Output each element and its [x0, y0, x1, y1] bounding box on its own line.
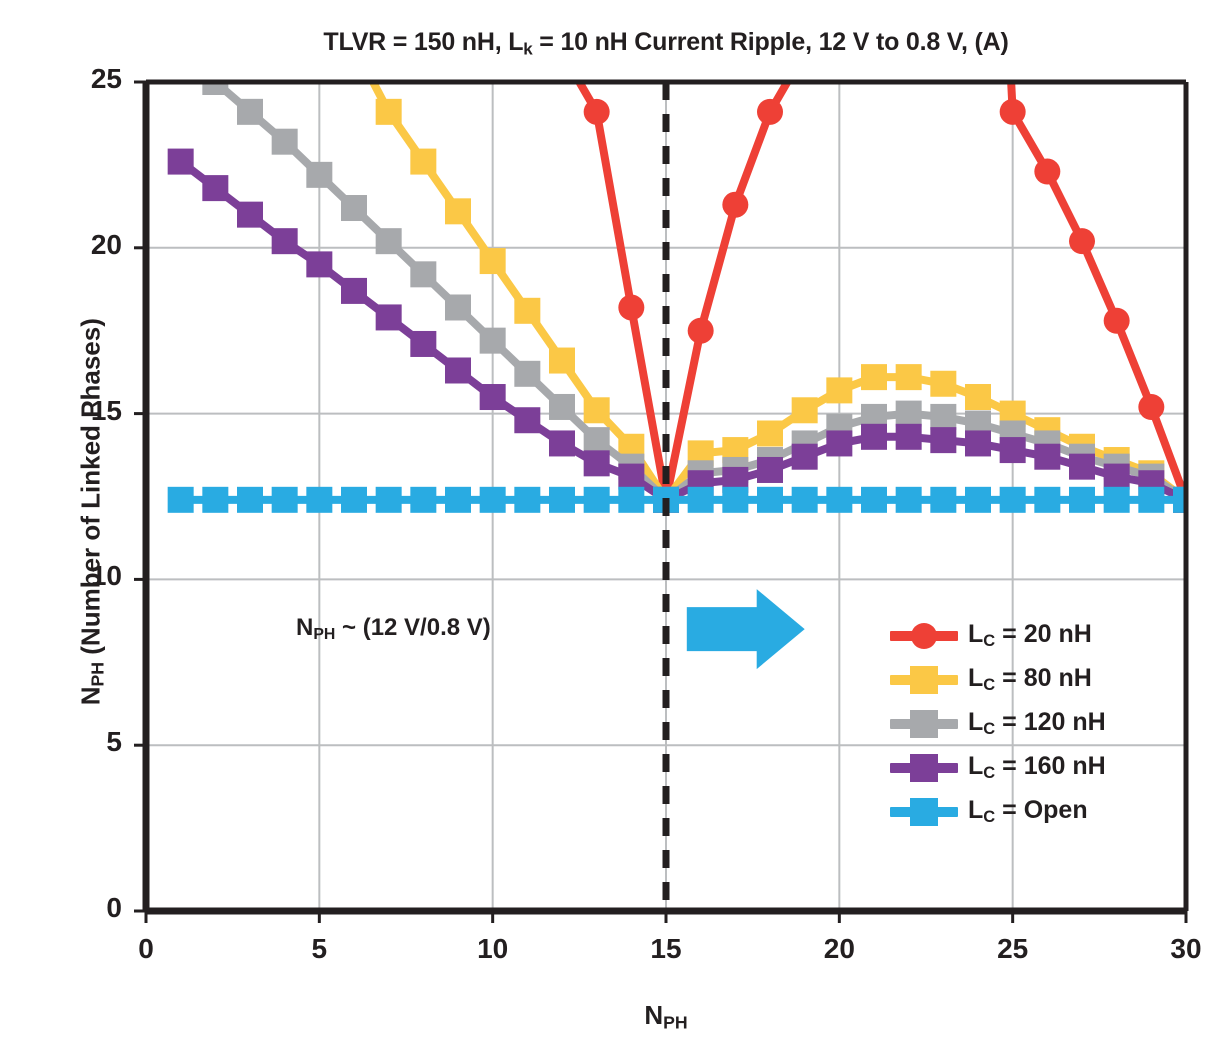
legend-item-2[interactable]: LC = 120 nH [888, 702, 1178, 746]
annotation-nph-ratio: NPH ~ (12 V/0.8 V) [296, 614, 491, 644]
data-point [376, 304, 402, 330]
data-point [1034, 444, 1060, 470]
data-point [272, 228, 298, 254]
data-point [1104, 487, 1130, 513]
series-group [168, 0, 1199, 513]
annotation-post: ~ (12 V/0.8 V) [335, 614, 490, 641]
data-point [757, 487, 783, 513]
data-point [861, 487, 887, 513]
data-point [1104, 464, 1130, 490]
data-point [306, 251, 332, 277]
legend-swatch-icon [888, 614, 960, 658]
x-tick-label: 10 [463, 933, 523, 965]
y-tick-label: 20 [66, 229, 122, 261]
y-tick-label: 15 [66, 395, 122, 427]
data-point [514, 361, 540, 387]
data-point [237, 487, 263, 513]
y-axis-label-base: N [75, 687, 105, 706]
x-axis-label-subscript: PH [663, 1012, 688, 1032]
data-point [376, 228, 402, 254]
data-point [792, 444, 818, 470]
legend-label: LC = 120 nH [968, 708, 1106, 739]
data-point [930, 404, 956, 430]
data-point [930, 487, 956, 513]
data-point [341, 487, 367, 513]
data-point [272, 487, 298, 513]
data-point [306, 162, 332, 188]
data-point [584, 450, 610, 476]
data-point [237, 99, 263, 125]
data-point [826, 430, 852, 456]
data-point [1138, 394, 1164, 420]
data-point [688, 487, 714, 513]
chart-container: TLVR = 150 nH, Lk = 10 nH Current Ripple… [0, 0, 1211, 1046]
y-tick-label: 0 [66, 892, 122, 924]
y-axis-label: NPH (Number of Linked Phases) [75, 232, 108, 792]
x-tick-label: 20 [809, 933, 869, 965]
x-axis-label: NPH [146, 1000, 1186, 1033]
legend-swatch-icon [888, 790, 960, 834]
data-point [514, 487, 540, 513]
data-point [826, 377, 852, 403]
data-point [168, 149, 194, 175]
chart-legend: LC = 20 nHLC = 80 nHLC = 120 nHLC = 160 … [888, 614, 1178, 834]
data-point [1104, 308, 1130, 334]
data-point [965, 430, 991, 456]
series-3 [168, 149, 1199, 513]
data-point [1138, 487, 1164, 513]
data-point [480, 248, 506, 274]
annotation-subscript: PH [313, 626, 335, 643]
data-point [445, 198, 471, 224]
data-point [376, 487, 402, 513]
data-point [896, 424, 922, 450]
y-tick-label: 25 [66, 63, 122, 95]
data-point [410, 261, 436, 287]
data-point [861, 364, 887, 390]
legend-label: LC = 20 nH [968, 620, 1092, 651]
data-point [1069, 487, 1095, 513]
data-point [480, 328, 506, 354]
data-point [896, 401, 922, 427]
data-point [792, 39, 818, 65]
data-point [618, 487, 644, 513]
data-point [584, 427, 610, 453]
legend-swatch-icon [888, 746, 960, 790]
data-point [1034, 487, 1060, 513]
data-point [896, 487, 922, 513]
data-point [1000, 99, 1026, 125]
data-point [896, 364, 922, 390]
data-point [272, 129, 298, 155]
y-tick-label: 10 [66, 560, 122, 592]
data-point [1069, 454, 1095, 480]
right-arrow-icon [687, 589, 805, 669]
data-point [410, 149, 436, 175]
data-point [168, 42, 194, 68]
data-point [549, 348, 575, 374]
data-point [584, 99, 610, 125]
x-tick-label: 5 [289, 933, 349, 965]
data-point [618, 294, 644, 320]
data-point [549, 39, 575, 65]
data-point [792, 487, 818, 513]
data-point [480, 487, 506, 513]
legend-swatch-icon [888, 702, 960, 746]
data-point [584, 487, 610, 513]
legend-item-0[interactable]: LC = 20 nH [888, 614, 1178, 658]
data-point [965, 487, 991, 513]
legend-label: LC = Open [968, 796, 1088, 827]
data-point [1000, 487, 1026, 513]
x-tick-label: 30 [1156, 933, 1211, 965]
data-point [618, 464, 644, 490]
data-point [722, 192, 748, 218]
data-point [757, 457, 783, 483]
data-point [410, 487, 436, 513]
data-point [514, 298, 540, 324]
data-point [688, 318, 714, 344]
data-point [1069, 228, 1095, 254]
legend-item-3[interactable]: LC = 160 nH [888, 746, 1178, 790]
data-point [410, 331, 436, 357]
data-point [341, 33, 367, 59]
data-point [861, 424, 887, 450]
annotation-base: N [296, 614, 313, 641]
x-axis-label-base: N [644, 1000, 663, 1030]
y-axis-label-post: (Number of Linked Phases) [75, 318, 105, 662]
data-point [757, 420, 783, 446]
data-point [341, 195, 367, 221]
data-point [1000, 437, 1026, 463]
data-point [237, 202, 263, 228]
data-point [965, 384, 991, 410]
data-point [549, 394, 575, 420]
legend-swatch-icon [888, 658, 960, 702]
legend-label: LC = 160 nH [968, 752, 1106, 783]
data-point [930, 427, 956, 453]
y-tick-label: 5 [66, 726, 122, 758]
data-point [757, 99, 783, 125]
y-axis-label-subscript: PH [88, 662, 108, 687]
data-point [514, 407, 540, 433]
data-point [445, 487, 471, 513]
data-point [826, 487, 852, 513]
data-point [202, 175, 228, 201]
data-point [306, 487, 332, 513]
data-point [341, 278, 367, 304]
data-point [480, 384, 506, 410]
data-point [930, 371, 956, 397]
data-point [792, 397, 818, 423]
data-point [376, 99, 402, 125]
legend-item-4[interactable]: LC = Open [888, 790, 1178, 834]
series-2 [168, 42, 1199, 512]
data-point [1034, 159, 1060, 185]
data-point [584, 397, 610, 423]
data-point [202, 487, 228, 513]
data-point [445, 294, 471, 320]
legend-label: LC = 80 nH [968, 664, 1092, 695]
data-point [168, 487, 194, 513]
x-tick-label: 15 [636, 933, 696, 965]
data-point [549, 430, 575, 456]
plot-area [0, 0, 1211, 1046]
data-point [445, 357, 471, 383]
data-point [722, 487, 748, 513]
legend-item-1[interactable]: LC = 80 nH [888, 658, 1178, 702]
x-tick-label: 25 [983, 933, 1043, 965]
data-point [549, 487, 575, 513]
x-tick-label: 0 [116, 933, 176, 965]
